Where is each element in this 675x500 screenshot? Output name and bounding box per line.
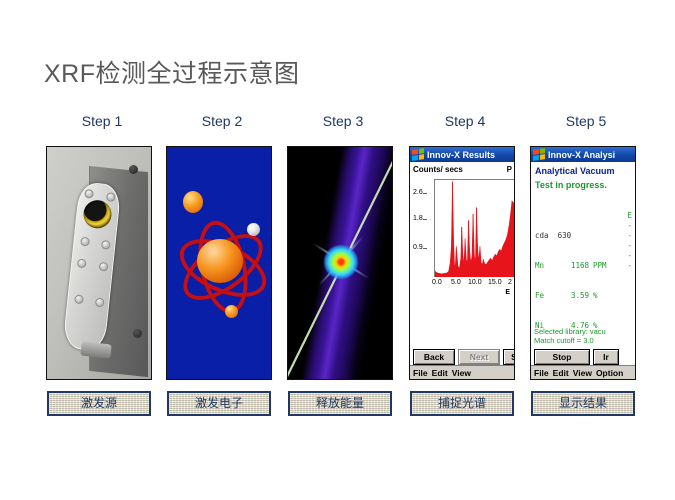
step-5-image: Innov-X Analysi Analytical Vacuum Test i… [530,146,636,380]
dash-mark: - [627,241,632,251]
chart-right-label: P [507,165,512,174]
dash-mark: - [627,251,632,261]
element-symbol: Fe [535,291,555,301]
screw-icon [95,298,105,308]
save-button[interactable]: S [503,349,515,365]
screw-icon [84,189,94,199]
button-row: Back Next S [410,348,515,365]
electron [225,305,238,318]
chart-x-axis-label: E [505,289,510,296]
element-symbol: Mn [535,261,555,271]
y-tick-label: 1.8 [413,215,423,222]
screw-icon [99,262,109,272]
step-4-caption: 捕捉光谱 [410,391,514,416]
analysis-heading: Analytical Vacuum [535,166,615,176]
screw-icon [77,258,87,268]
menubar: File Edit View [410,365,515,379]
library-note: Selected library: vacu Match cutoff = 3.… [534,327,606,345]
sample-id: cda 630 [535,231,555,241]
step-3-caption: 释放能量 [288,391,392,416]
bolt-icon [129,165,138,174]
titlebar-text: Innov-X Results [427,150,495,160]
titlebar: Innov-X Analysi [531,147,635,162]
x-tick-label: 2 [508,279,512,286]
step-2-caption: 激发电子 [167,391,271,416]
photon-particle [247,223,260,236]
element-unit: PPM [589,261,607,271]
dash-mark: - [627,231,632,241]
windows-flag-icon [412,148,424,161]
step-3-image [287,146,393,380]
step-2: Step 2 激发电子 [166,110,278,132]
pda-results-screen: Innov-X Results Counts/ secs P 2.6 1.8 0… [410,147,514,379]
table-row: Fe3.59% [535,291,607,301]
step-3: Step 3 释放能量 [287,110,399,132]
chart-y-axis-label: Counts/ secs [413,165,463,174]
page-title: XRF检测全过程示意图 [44,54,300,90]
menubar: File Edit View Option [531,365,636,379]
step-1-label: Step 1 [46,110,158,132]
y-tick-label: 0.9 [413,244,423,251]
table-row: Mn1168PPM [535,261,607,271]
step-4: Step 4 Innov-X Results Counts/ secs P 2.… [409,110,521,132]
energy-hotspot [324,245,358,279]
step-5-caption: 显示结果 [531,391,635,416]
nucleus [197,239,243,283]
x-tick-label: 0.0 [432,279,442,286]
menu-edit[interactable]: Edit [432,368,448,378]
step-2-label: Step 2 [166,110,278,132]
screw-icon [74,294,84,304]
back-button[interactable]: Back [413,349,455,365]
xray-source-photo [47,147,151,379]
menu-file[interactable]: File [413,368,428,378]
menu-edit[interactable]: Edit [553,368,569,378]
bolt-icon [133,329,142,338]
table-header-row: cda 630 [535,231,607,241]
step-1: Step 1 激发源 [46,110,158,132]
step-2-image [166,146,272,380]
next-button[interactable]: Next [458,349,500,365]
step-5-label: Step 5 [530,110,642,132]
electron [183,191,203,213]
step-5: Step 5 Innov-X Analysi Analytical Vacuum… [530,110,642,132]
pda-analysis-screen: Innov-X Analysi Analytical Vacuum Test i… [531,147,635,379]
library-note-line2: Match cutoff = 3.0 [534,336,606,345]
step-4-image: Innov-X Results Counts/ secs P 2.6 1.8 0… [409,146,515,380]
menu-view[interactable]: View [573,368,592,378]
screw-icon [101,240,111,250]
windows-flag-icon [533,148,545,161]
x-tick-label: 10.0 [468,279,482,286]
step-4-label: Step 4 [409,110,521,132]
mount-bracket [80,341,111,358]
menu-view[interactable]: View [452,368,471,378]
energy-release-visualization [288,147,392,379]
element-unit: % [589,291,598,301]
library-note-line1: Selected library: vacu [534,327,606,336]
info-button[interactable]: Ir [593,349,619,365]
steps-row: Step 1 激发源 [0,110,675,430]
aperture-ring-icon [82,199,113,230]
x-tick-label: 15.0 [488,279,502,286]
results-column-edge: E - - - - - [627,211,632,271]
button-row: Stop Ir [531,348,636,365]
menu-options[interactable]: Option [596,368,623,378]
stop-button[interactable]: Stop [534,349,590,365]
dash-mark: - [627,261,632,271]
step-1-caption: 激发源 [47,391,151,416]
menu-file[interactable]: File [534,368,549,378]
titlebar: Innov-X Results [410,147,514,162]
element-value: 3.59 [555,291,589,301]
x-tick-label: 5.0 [451,279,461,286]
analysis-status: Test in progress. [535,180,607,190]
screw-icon [106,192,116,202]
dash-mark: - [627,221,632,231]
spectrum-plot [435,180,515,277]
atom-diagram [167,147,271,379]
step-1-image [46,146,152,380]
column-header: E [627,211,632,221]
screw-icon [80,237,90,247]
y-tick-label: 2.6 [413,189,423,196]
spectrum-chart [434,179,515,277]
step-3-label: Step 3 [287,110,399,132]
titlebar-text: Innov-X Analysi [548,150,615,160]
element-value: 1168 [555,261,589,271]
